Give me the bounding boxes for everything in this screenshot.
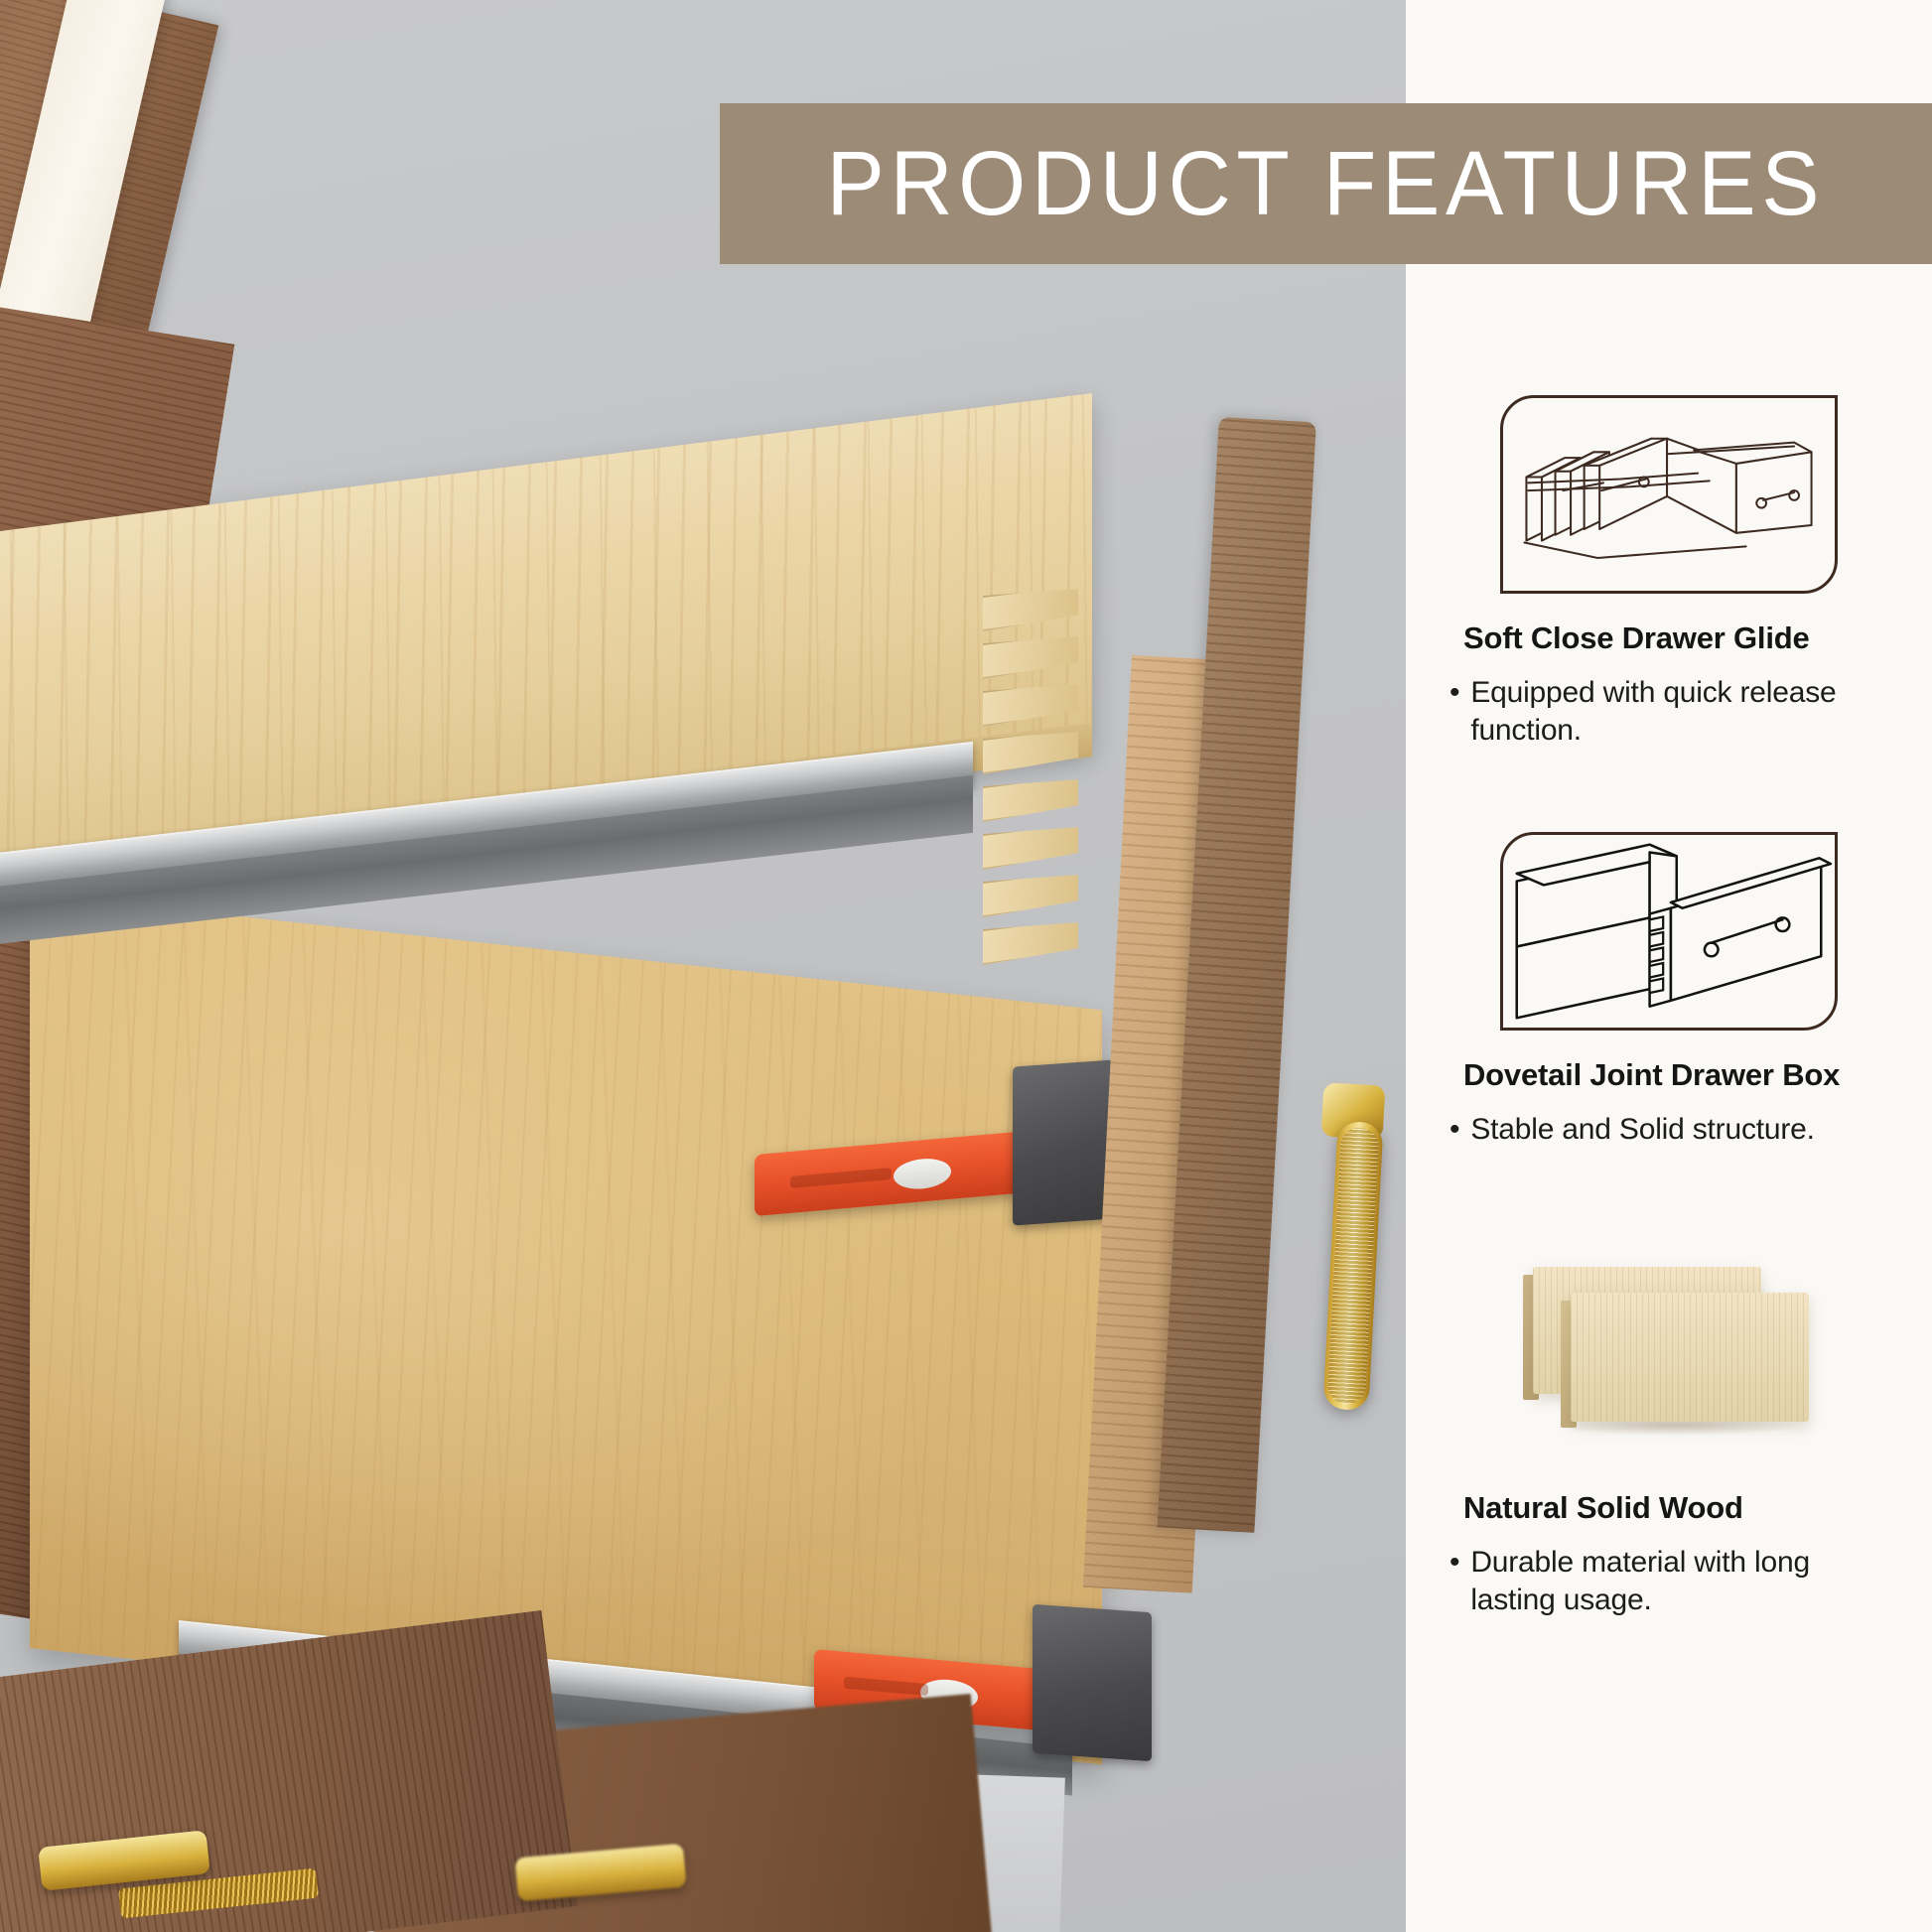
feature-title: Natural Solid Wood [1463,1489,1932,1526]
dovetail-drawer-box-icon [1500,832,1838,1031]
drawer-slide-icon [1500,395,1838,594]
page-title-banner: PRODUCT FEATURES [720,103,1932,264]
bullet-marker: • [1449,674,1459,750]
feature-item-solid-wood: Natural Solid Wood • Durable material wi… [1406,1257,1932,1619]
bullet-text: Equipped with quick release function. [1470,674,1896,750]
bullet-text: Stable and Solid structure. [1470,1111,1814,1149]
feature-bullet: • Durable material with long lasting usa… [1449,1544,1896,1619]
page-title: PRODUCT FEATURES [827,132,1826,236]
plank-front [1571,1293,1809,1422]
brass-knurled-handle [1322,1121,1383,1411]
dovetail-joint-pins [983,581,1102,1013]
bullet-marker: • [1449,1544,1459,1619]
feature-title: Dovetail Joint Drawer Box [1463,1056,1932,1093]
slide-housing-bottom [1033,1604,1152,1761]
wood-planks-icon [1515,1257,1823,1446]
infographic-canvas: Soft Close Drawer Glide • Equipped with … [0,0,1932,1932]
feature-bullet: • Stable and Solid structure. [1449,1111,1896,1149]
feature-item-dovetail: Dovetail Joint Drawer Box • Stable and S… [1406,832,1932,1149]
bullet-marker: • [1449,1111,1459,1149]
product-photo [0,0,1406,1932]
bullet-text: Durable material with long lasting usage… [1470,1544,1896,1619]
feature-item-soft-close: Soft Close Drawer Glide • Equipped with … [1406,395,1932,750]
feature-bullet: • Equipped with quick release function. [1449,674,1896,750]
feature-panel: Soft Close Drawer Glide • Equipped with … [1406,0,1932,1932]
feature-title: Soft Close Drawer Glide [1463,620,1932,656]
dovetail-drawer-box-icon-glyph [1503,835,1835,1028]
drawer-slide-icon-glyph [1503,398,1835,591]
